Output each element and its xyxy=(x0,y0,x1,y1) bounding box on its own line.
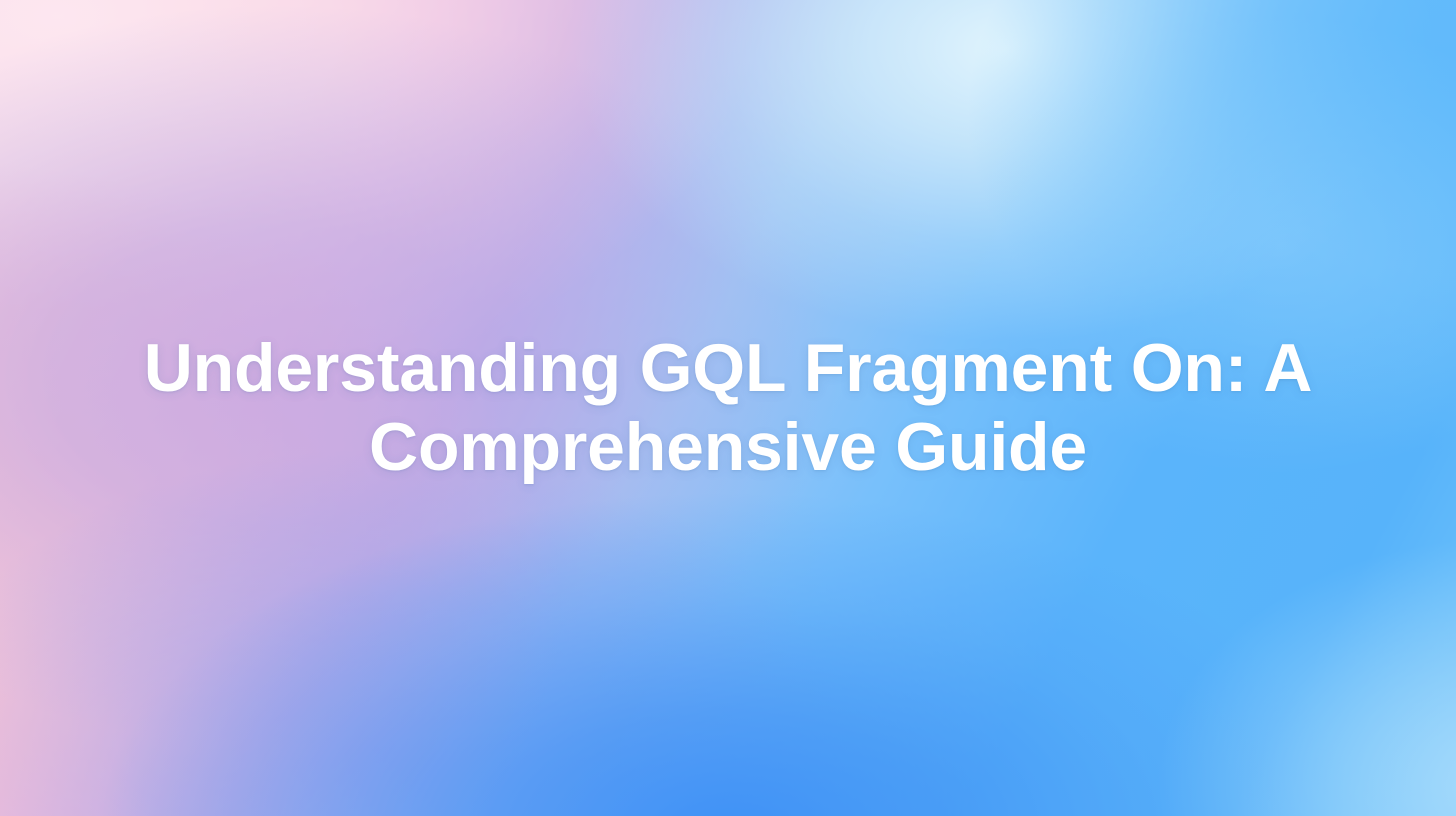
banner-title: Understanding GQL Fragment On: A Compreh… xyxy=(108,329,1348,487)
title-container: Understanding GQL Fragment On: A Compreh… xyxy=(0,0,1456,816)
hero-banner: Understanding GQL Fragment On: A Compreh… xyxy=(0,0,1456,816)
